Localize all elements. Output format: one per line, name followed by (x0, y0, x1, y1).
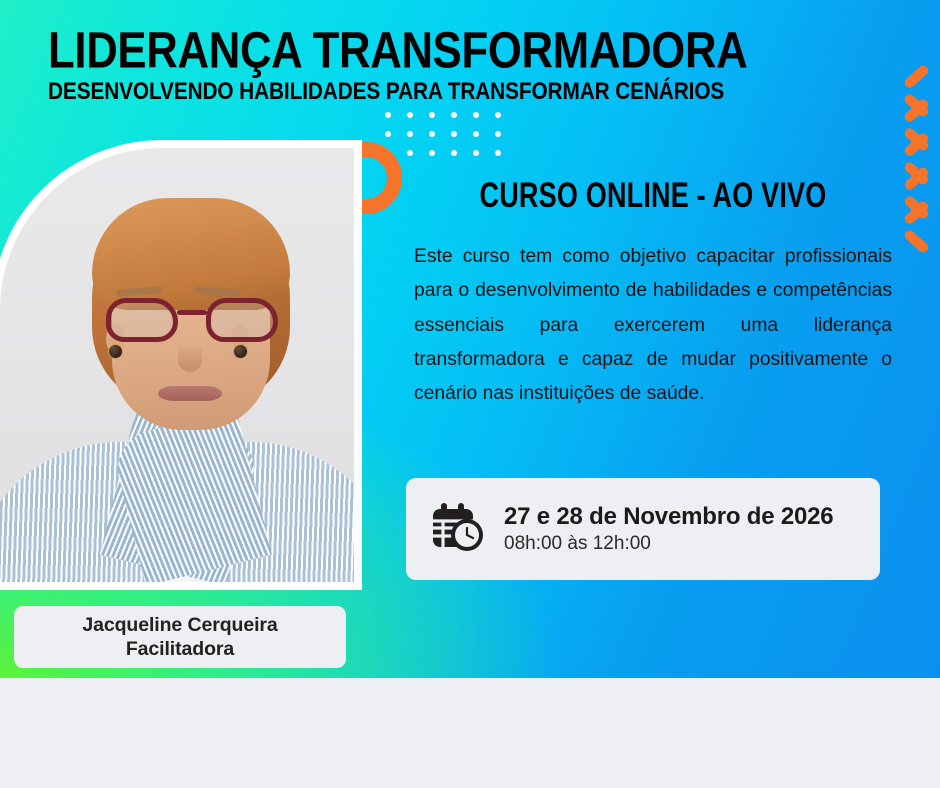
glasses-bridge (177, 310, 207, 315)
dot-grid-decoration (385, 112, 517, 169)
headline-block: LIDERANÇA TRANSFORMADORA DESENVOLVENDO H… (48, 26, 568, 101)
dot (473, 150, 479, 156)
promotional-flyer: LIDERANÇA TRANSFORMADORA DESENVOLVENDO H… (0, 0, 940, 788)
page-title: LIDERANÇA TRANSFORMADORA (48, 26, 589, 75)
facilitator-photo-frame (0, 140, 362, 590)
footer-logo-bar: ucas Universidade Corporativa AHSEB (0, 678, 940, 788)
facilitator-role: Facilitadora (126, 638, 234, 661)
dot (429, 112, 435, 118)
dot (451, 150, 457, 156)
facilitator-name: Jacqueline Cerqueira (82, 614, 277, 637)
mouth (158, 386, 222, 401)
dot (451, 112, 457, 118)
course-description: Este curso tem como objetivo capacitar p… (414, 240, 892, 412)
dot (495, 112, 501, 118)
earring-left (108, 344, 123, 359)
lens-right (206, 298, 278, 342)
facilitator-card: Jacqueline Cerqueira Facilitadora (14, 606, 346, 668)
page-subtitle: DESENVOLVENDO HABILIDADES PARA TRANSFORM… (48, 80, 578, 104)
facilitator-photo (0, 148, 354, 582)
dot (495, 131, 501, 137)
dot (407, 150, 413, 156)
chevron-decoration (906, 214, 940, 240)
dot (385, 112, 391, 118)
schedule-card: 27 e 28 de Novembro de 2026 08h:00 às 12… (406, 478, 880, 580)
dot (385, 131, 391, 137)
earring-right (233, 344, 248, 359)
nose (178, 344, 202, 372)
dot (429, 131, 435, 137)
lens-left (106, 298, 178, 342)
dot (473, 131, 479, 137)
eyeglasses (106, 298, 278, 344)
course-date: 27 e 28 de Novembro de 2026 (504, 503, 833, 531)
dot (429, 150, 435, 156)
dot (407, 112, 413, 118)
course-heading: CURSO ONLINE - AO VIVO (398, 176, 908, 216)
dot (495, 150, 501, 156)
calendar-clock-icon (424, 501, 486, 557)
course-time: 08h:00 às 12h:00 (504, 533, 833, 555)
dot (451, 131, 457, 137)
dot (473, 112, 479, 118)
schedule-text: 27 e 28 de Novembro de 2026 08h:00 às 12… (504, 503, 833, 555)
dot (407, 131, 413, 137)
